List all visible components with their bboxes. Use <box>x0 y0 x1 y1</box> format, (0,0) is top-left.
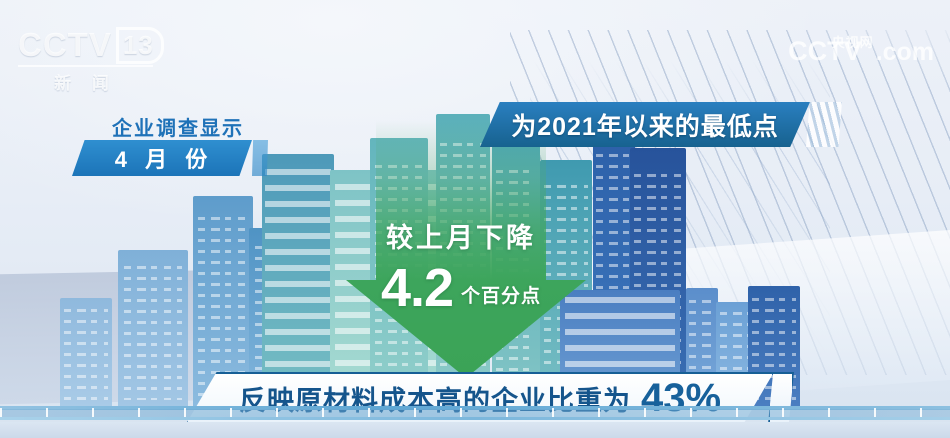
cctv-logo-subtitle: 新 闻 <box>18 65 153 94</box>
decrease-arrow-callout: 较上月下降 4.2 个百分点 <box>336 120 586 378</box>
arrow-value-row: 4.2 个百分点 <box>336 263 586 314</box>
top-banner: 为2021年以来的最低点 <box>480 102 810 147</box>
ground-strip <box>0 422 950 438</box>
month-banner-label: 4 月 份 <box>111 142 213 174</box>
arrow-value: 4.2 <box>381 263 453 314</box>
arrow-text-group: 较上月下降 4.2 个百分点 <box>336 120 586 314</box>
building <box>262 154 334 406</box>
arrow-headline: 较上月下降 <box>336 216 586 255</box>
month-banner-accent <box>252 140 268 176</box>
cctv-logo-number: 13 <box>116 27 164 64</box>
railing <box>0 406 950 424</box>
top-banner-accent-stripes <box>806 102 842 147</box>
cctv-com-watermark: CCTV 央视网 .com <box>788 32 934 67</box>
kicker-label: 企业调查显示 <box>112 112 244 141</box>
railing-bottom-bar <box>0 417 950 420</box>
cctv13-logo: CCTV 13 新 闻 <box>18 26 164 94</box>
building <box>118 250 188 406</box>
month-banner: 4 月 份 <box>72 140 252 176</box>
cctv-logo-channel: CCTV <box>18 26 112 64</box>
cctv-watermark-cn: 央视网 <box>832 32 874 51</box>
building <box>60 298 112 406</box>
cctv-logo-wordmark: CCTV 13 <box>18 26 164 64</box>
arrow-unit: 个百分点 <box>453 281 541 314</box>
top-banner-label: 为2021年以来的最低点 <box>511 107 779 143</box>
infographic-canvas: 较上月下降 4.2 个百分点 企业调查显示 4 月 份 为2021年以来的最低点… <box>0 0 950 438</box>
cctv-watermark-domain: .com <box>876 38 934 67</box>
